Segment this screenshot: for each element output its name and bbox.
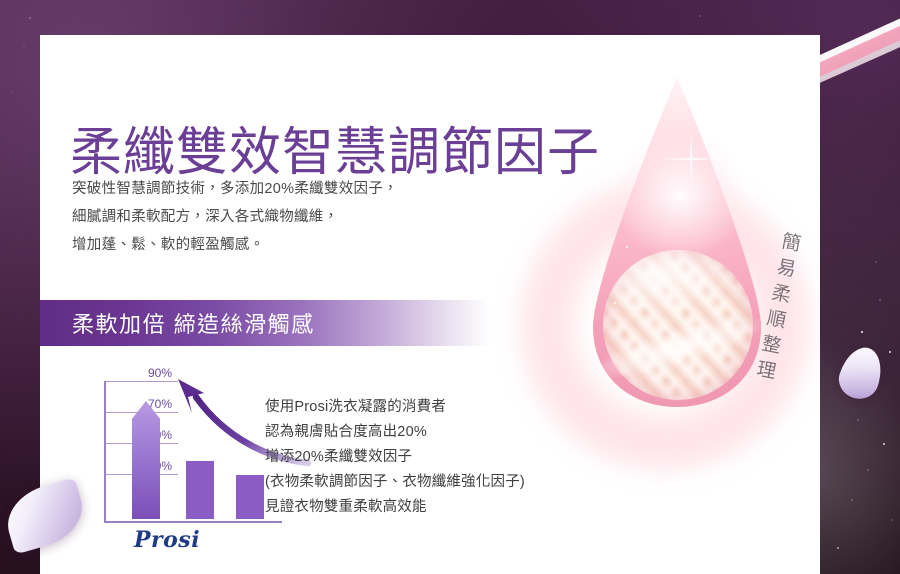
chart-description: 使用Prosi洗衣凝露的消費者 認為親膚貼合度高出20% 增添20%柔纖雙效因子…	[265, 395, 525, 520]
chart-description-line: (衣物柔軟調節因子、衣物纖維強化因子)	[265, 470, 525, 495]
hero-subcopy-line: 突破性智慧調節技術，多添加20%柔纖雙效因子，	[72, 175, 398, 203]
bar-chart: 90% 70% 50% 30%	[66, 375, 286, 565]
chart-bar-competitor-a	[186, 461, 214, 519]
chart-plot-area: 90% 70% 50% 30%	[104, 381, 282, 523]
sparkle-star-icon	[663, 131, 719, 187]
vertical-calligraphy-text: 簡易柔順整理	[737, 227, 806, 388]
woven-fiber-texture	[603, 250, 753, 400]
hero-subcopy-line: 細膩調和柔軟配方，深入各式織物纖維，	[72, 203, 398, 231]
droplet-top-glow	[615, 130, 745, 260]
chart-description-line: 認為親膚貼合度高出20%	[265, 420, 525, 445]
chart-description-line: 見證衣物雙重柔軟高效能	[265, 495, 525, 520]
content-card: 簡易柔順整理 柔纖雙效智慧調節因子 突破性智慧調節技術，多添加20%柔纖雙效因子…	[40, 35, 820, 574]
prosi-brand-logo: Prosi	[134, 527, 200, 553]
droplet-shape	[593, 77, 761, 407]
chart-bar-competitor-b	[236, 475, 264, 519]
hero-subcopy-line: 增加蓬、鬆、軟的輕盈觸感。	[72, 231, 398, 259]
poster-canvas: 簡易柔順整理 柔纖雙效智慧調節因子 突破性智慧調節技術，多添加20%柔纖雙效因子…	[0, 0, 900, 574]
hero-subcopy: 突破性智慧調節技術，多添加20%柔纖雙效因子， 細膩調和柔軟配方，深入各式織物纖…	[72, 175, 398, 259]
section-banner: 柔軟加倍 締造絲滑觸感	[40, 300, 490, 346]
chart-description-line: 增添20%柔纖雙效因子	[265, 445, 525, 470]
page-title: 柔纖雙效智慧調節因子	[70, 125, 600, 182]
chart-bar-prosi	[132, 401, 160, 519]
section-banner-text: 柔軟加倍 締造絲滑觸感	[40, 307, 315, 339]
chart-description-line: 使用Prosi洗衣凝露的消費者	[265, 395, 525, 420]
